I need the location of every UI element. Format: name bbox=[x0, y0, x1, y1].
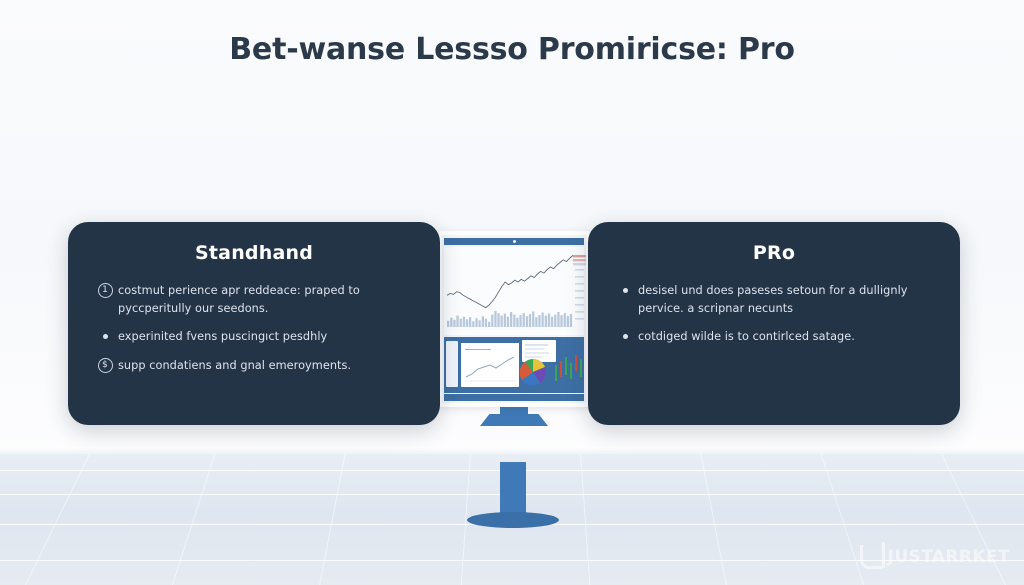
monitor-screen bbox=[442, 235, 586, 403]
plan-feature-list: 1 costmut perience apr reddeace: praped … bbox=[92, 282, 416, 374]
plan-feature-text: costmut perience apr reddeace: praped to… bbox=[118, 282, 416, 317]
plan-feature-text: supp condatiens and gnal emeroyments. bbox=[118, 357, 351, 375]
dashboard-candlesticks bbox=[552, 347, 584, 387]
slide-canvas: Bet-wanse Lessso Promiricse: Pro bbox=[0, 0, 1024, 585]
plan-feature-item: experinited fvens puscingıct pesdhly bbox=[92, 328, 416, 346]
plan-feature-item: cotdiged wilde is to contirlced satage. bbox=[612, 328, 936, 346]
price-chart-svg bbox=[444, 247, 586, 335]
bullet-dot-icon bbox=[612, 282, 638, 293]
screen-top-toolbar bbox=[444, 238, 584, 245]
plan-feature-text: cotdiged wilde is to contirlced satage. bbox=[638, 328, 855, 346]
circled-one-icon: 1 bbox=[92, 282, 118, 298]
monitor-stand-base bbox=[480, 414, 548, 426]
desktop-monitor bbox=[438, 231, 590, 407]
dashboard-line-svg bbox=[461, 343, 519, 387]
trading-chart-pane bbox=[444, 247, 584, 335]
dashboard-pane bbox=[444, 337, 584, 393]
j-logo-icon bbox=[860, 545, 882, 569]
plan-feature-item: desisel und does paseses setoun for a du… bbox=[612, 282, 936, 317]
desk-edge bbox=[0, 447, 1024, 454]
screen-bottom-toolbar bbox=[444, 394, 584, 401]
dashboard-line-panel bbox=[461, 343, 519, 387]
watermark: JUSTARRKET bbox=[860, 545, 1010, 569]
toolbar-dot-icon bbox=[513, 240, 516, 243]
plan-feature-list: desisel und does paseses setoun for a du… bbox=[612, 282, 936, 346]
plan-title: Standhand bbox=[92, 242, 416, 264]
circled-dollar-icon: $ bbox=[92, 357, 118, 373]
bullet-dot-icon bbox=[92, 328, 118, 339]
plan-feature-text: desisel und does paseses setoun for a du… bbox=[638, 282, 936, 317]
dashboard-sidebar bbox=[446, 341, 458, 387]
desk-pedestal-foot bbox=[467, 512, 559, 528]
desk-pedestal bbox=[500, 462, 526, 518]
dashboard-pie-chart bbox=[518, 357, 550, 387]
watermark-text: JUSTARRKET bbox=[888, 547, 1010, 567]
plan-card-pro[interactable]: PRo desisel und does paseses setoun for … bbox=[588, 222, 960, 425]
plan-title: PRo bbox=[612, 242, 936, 264]
plan-card-standard[interactable]: Standhand 1 costmut perience apr reddeac… bbox=[68, 222, 440, 425]
bullet-dot-icon bbox=[612, 328, 638, 339]
plan-feature-text: experinited fvens puscingıct pesdhly bbox=[118, 328, 327, 346]
plan-feature-item: $ supp condatiens and gnal emeroyments. bbox=[92, 357, 416, 375]
page-title: Bet-wanse Lessso Promiricse: Pro bbox=[0, 32, 1024, 67]
plan-feature-item: 1 costmut perience apr reddeace: praped … bbox=[92, 282, 416, 317]
